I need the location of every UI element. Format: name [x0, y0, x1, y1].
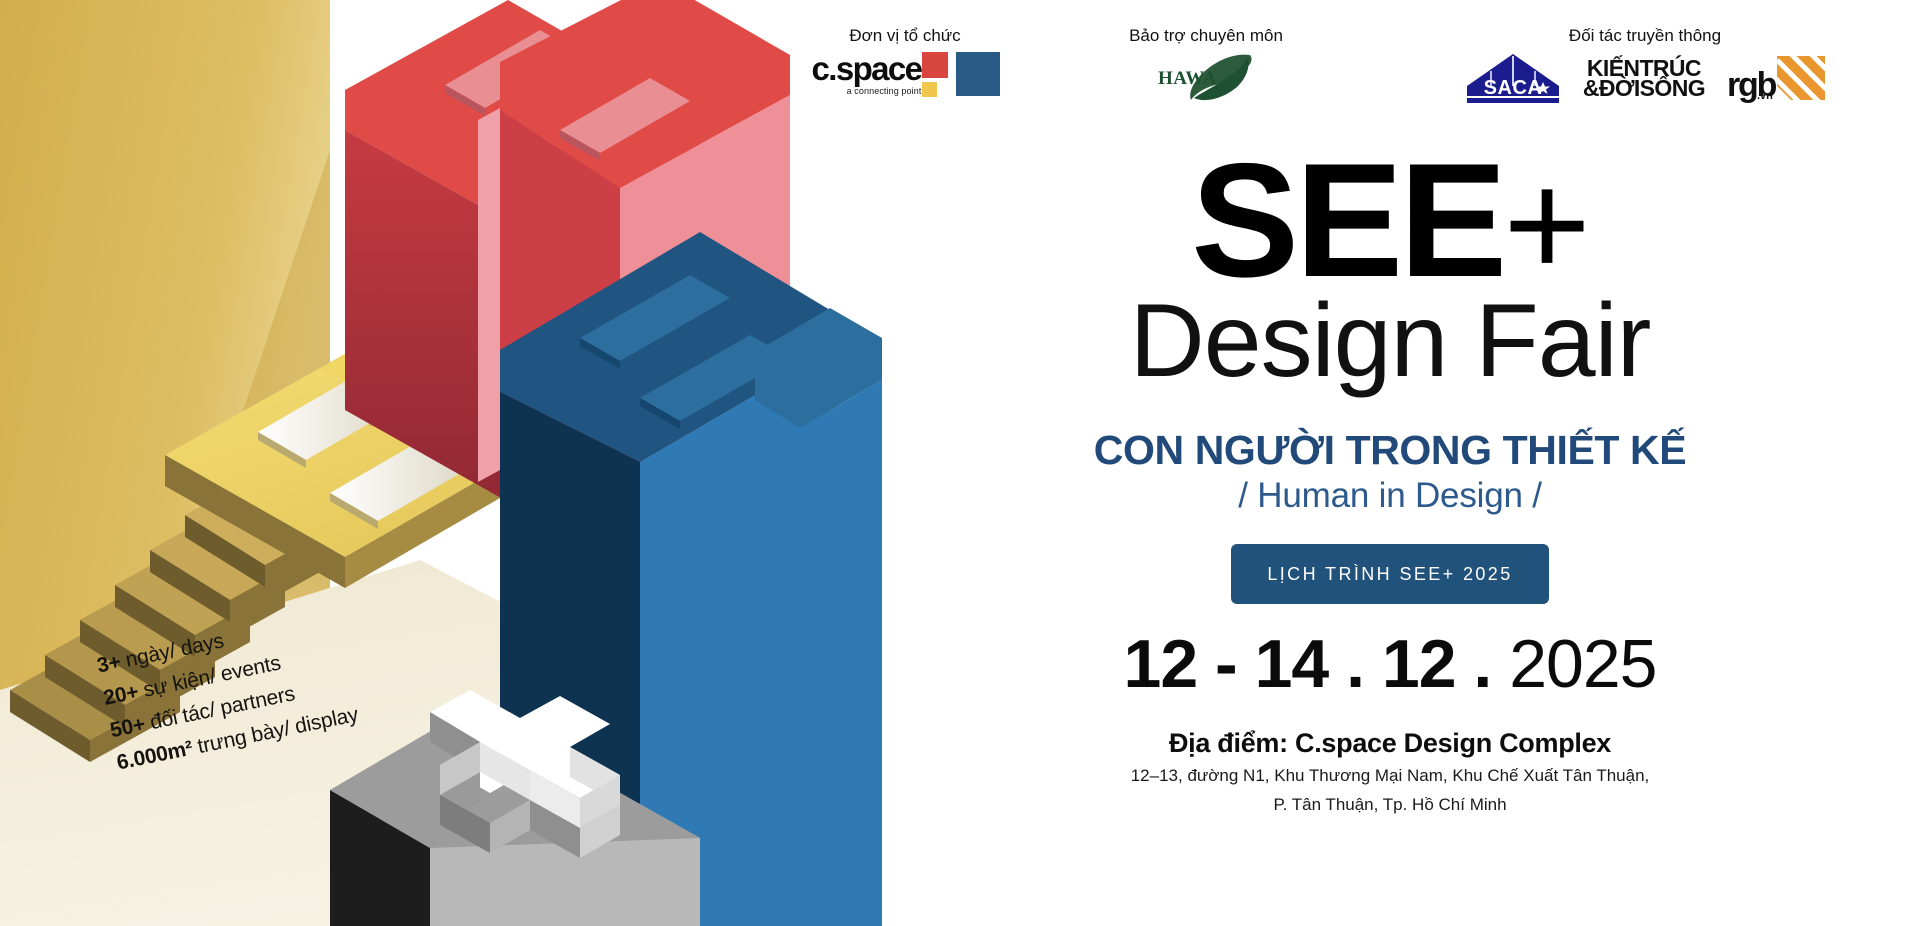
rgb-logo[interactable]: rgb .vn: [1727, 56, 1825, 100]
hero-content: SEE+ Design Fair CON NGƯỜI TRONG THIẾT K…: [920, 150, 1860, 818]
rgb-tld: .vn: [1757, 90, 1773, 102]
rgb-stripes-icon: [1777, 56, 1825, 100]
cspace-tagline: a connecting point: [812, 86, 922, 96]
partner-group-organizer: Đơn vị tổ chức c.space a connecting poin…: [790, 26, 1020, 96]
theme-vietnamese: CON NGƯỜI TRONG THIẾT KẾ: [920, 427, 1860, 474]
venue-address-line-1: 12–13, đường N1, Khu Thương Mại Nam, Khu…: [920, 764, 1860, 789]
svg-text:SACA: SACA: [1483, 77, 1542, 99]
partner-strip: Đơn vị tổ chức c.space a connecting poin…: [790, 26, 1900, 126]
hero-illustration: 3+ ngày/ days 20+ sự kiện/ events 50+ đố…: [0, 0, 882, 926]
venue-block: Địa điểm: C.space Design Complex 12–13, …: [920, 728, 1860, 818]
cspace-red-square: [922, 52, 948, 78]
cspace-marks: [922, 52, 998, 96]
theme-english: / Human in Design /: [920, 476, 1860, 516]
cspace-blue-square: [956, 52, 1000, 96]
venue-address-line-2: P. Tân Thuận, Tp. Hồ Chí Minh: [920, 793, 1860, 818]
cspace-logo[interactable]: c.space a connecting point: [812, 52, 999, 96]
theme-block: CON NGƯỜI TRONG THIẾT KẾ / Human in Desi…: [920, 427, 1860, 516]
sponsor-label: Bảo trợ chuyên môn: [1086, 26, 1326, 46]
hawa-wordmark: HAWA: [1158, 68, 1217, 90]
design-fair-text: Design Fair: [920, 289, 1860, 393]
doisong-line: &ĐỜISỐNG: [1583, 78, 1705, 98]
hawa-logo[interactable]: HAWA: [1158, 52, 1254, 104]
date-range: 12 - 14 . 12 .: [1124, 626, 1510, 702]
schedule-cta-button[interactable]: LỊCH TRÌNH SEE+ 2025: [1231, 544, 1548, 604]
see-plus-wordmark: SEE+: [920, 150, 1860, 293]
event-banner: 3+ ngày/ days 20+ sự kiện/ events 50+ đố…: [0, 0, 1914, 926]
cspace-wordmark: c.space: [812, 52, 922, 85]
event-date: 12 - 14 . 12 . 2025: [920, 630, 1860, 698]
event-logotype: SEE+ Design Fair: [920, 150, 1860, 393]
saca-house-icon: SACA: [1465, 52, 1561, 104]
organizer-label: Đơn vị tổ chức: [790, 26, 1020, 46]
media-label: Đối tác truyền thông: [1390, 26, 1900, 46]
kientruc-doisong-logo[interactable]: KIẾNTRÚC &ĐỜISỐNG: [1583, 58, 1705, 98]
saca-logo[interactable]: SACA: [1465, 52, 1561, 104]
date-year: 2025: [1509, 626, 1656, 702]
partner-group-sponsor: Bảo trợ chuyên môn HAWA: [1086, 26, 1326, 104]
cspace-yellow-square: [922, 82, 937, 97]
partner-group-media: Đối tác truyền thông SACA KIẾNTRÚC: [1390, 26, 1900, 104]
venue-name: Địa điểm: C.space Design Complex: [920, 728, 1860, 759]
